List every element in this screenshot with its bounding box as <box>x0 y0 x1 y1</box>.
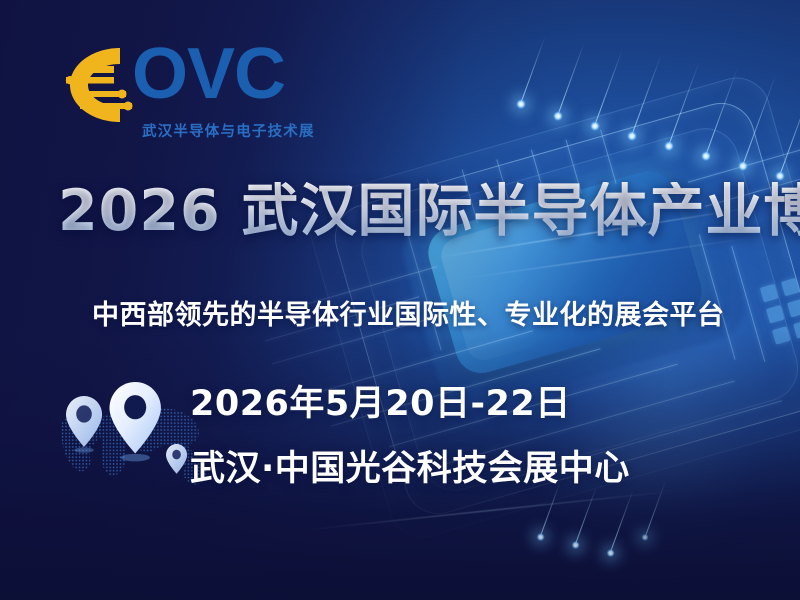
map-pin-icon <box>66 396 102 453</box>
logo-subtitle: 武汉半导体与电子技术展 <box>142 120 315 141</box>
event-venue: 武汉·中国光谷科技会展中心 <box>190 440 630 491</box>
logo-wordmark: OVC <box>132 38 285 110</box>
semiconductor-c-chip-logo-icon <box>58 46 136 124</box>
event-date: 2026年5月20日-22日 <box>190 375 571 426</box>
ovc-logo[interactable]: OVC 武汉半导体与电子技术展 <box>58 44 288 144</box>
page-tagline: 中西部领先的半导体行业国际性、专业化的展会平台 <box>92 293 725 332</box>
event-poster: OVC 武汉半导体与电子技术展 2026 武汉国际半导体产业博览会 中西部领先的… <box>0 0 800 600</box>
map-pin-icon <box>166 444 187 474</box>
page-title: 2026 武汉国际半导体产业博览会 <box>58 182 800 242</box>
map-pin-icon <box>109 382 160 461</box>
